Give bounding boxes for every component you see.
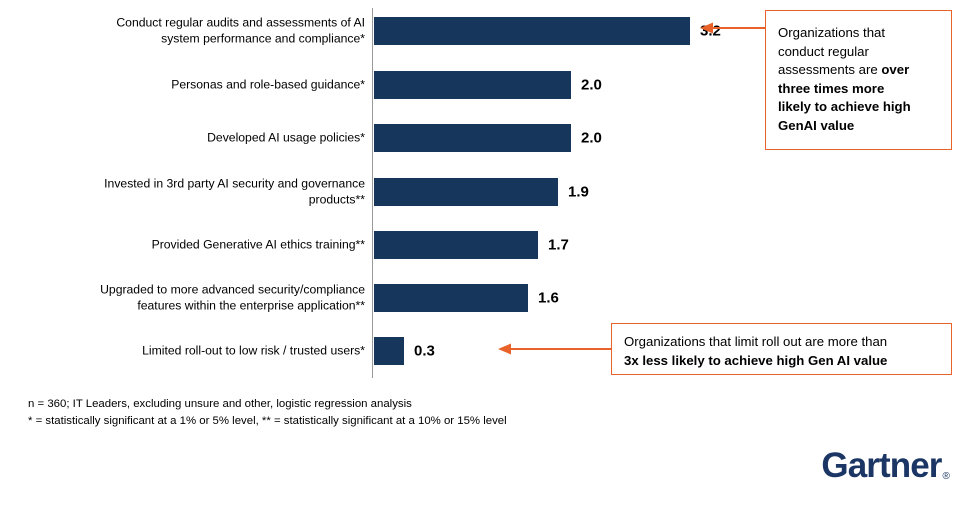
bar-fill — [374, 178, 558, 206]
bar-fill — [374, 71, 571, 99]
bar-value-label: 1.9 — [568, 184, 589, 201]
bar-category-label: Conduct regular audits and assessments o… — [10, 16, 365, 47]
bar-value-label: 1.6 — [538, 290, 559, 307]
bar-category-label: Personas and role-based guidance* — [10, 77, 365, 93]
bar-track — [374, 337, 404, 365]
bar-category-label: Provided Generative AI ethics training** — [10, 237, 365, 253]
footnote-sample-size: n = 360; IT Leaders, excluding unsure an… — [28, 396, 507, 413]
callout-line-5-bold: likely to achieve high — [778, 99, 911, 114]
bar-value-label: 0.3 — [414, 343, 435, 360]
callout-limited-line-2: 3x less likely to achieve high Gen AI va… — [624, 353, 887, 368]
callout-line-2: conduct regular — [778, 44, 869, 59]
chart-row: Invested in 3rd party AI security and go… — [0, 169, 970, 215]
bar-fill — [374, 284, 528, 312]
gartner-logo: Gartner® — [821, 446, 948, 486]
chart-row: Upgraded to more advanced security/compl… — [0, 275, 970, 321]
bar-value-label: 2.0 — [581, 130, 602, 147]
footnote-significance: * = statistically significant at a 1% or… — [28, 413, 507, 430]
bar-category-label: Limited roll-out to low risk / trusted u… — [10, 343, 365, 359]
chart-row: Provided Generative AI ethics training**… — [0, 222, 970, 268]
callout-line-4-bold: three times more — [778, 81, 884, 96]
registered-trademark-icon: ® — [943, 471, 949, 482]
callout-limited-rollout: Organizations that limit roll out are mo… — [611, 323, 952, 375]
bar-track — [374, 124, 571, 152]
callout-line-3-bold: over — [881, 62, 909, 77]
bar-fill — [374, 231, 538, 259]
callout-connector-arrow-bottom — [498, 342, 614, 356]
bar-track — [374, 178, 558, 206]
bar-track — [374, 17, 690, 45]
bar-track — [374, 231, 538, 259]
callout-line-1: Organizations that — [778, 25, 885, 40]
gartner-logo-text: Gartner — [821, 446, 941, 485]
bar-category-label: Developed AI usage policies* — [10, 130, 365, 146]
chart-footnotes: n = 360; IT Leaders, excluding unsure an… — [28, 396, 507, 430]
bar-category-label: Upgraded to more advanced security/compl… — [10, 283, 365, 314]
bar-fill — [374, 124, 571, 152]
bar-category-label: Invested in 3rd party AI security and go… — [10, 177, 365, 208]
bar-value-label: 2.0 — [581, 77, 602, 94]
callout-assessments: Organizations that conduct regular asses… — [765, 10, 952, 150]
bar-track — [374, 284, 528, 312]
bar-value-label: 1.7 — [548, 237, 569, 254]
bar-track — [374, 71, 571, 99]
callout-limited-line-1: Organizations that limit roll out are mo… — [624, 334, 887, 349]
bar-fill — [374, 337, 404, 365]
callout-line-6-bold: GenAI value — [778, 118, 854, 133]
callout-line-3-plain: assessments are — [778, 62, 881, 77]
callout-connector-arrow-top — [700, 21, 766, 35]
bar-fill — [374, 17, 690, 45]
